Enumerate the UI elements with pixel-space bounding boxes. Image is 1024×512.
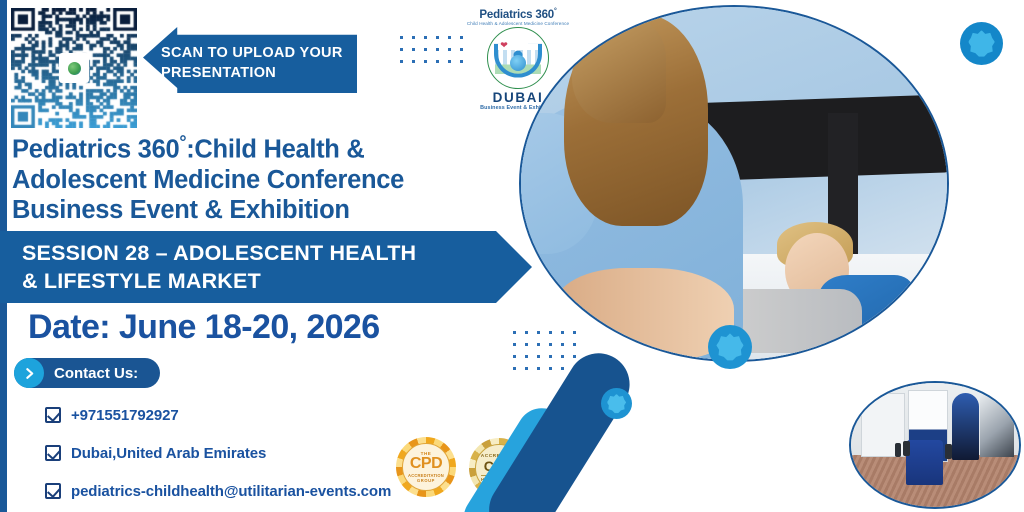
contact-item-phone[interactable]: +971551792927	[45, 398, 465, 432]
logo-heart-icon: ❤	[500, 41, 508, 49]
cpd-badge-main-text: CPD	[410, 456, 442, 472]
dot	[412, 36, 415, 39]
conference-banner: SCAN TO UPLOAD YOUR PRESENTATION Pediatr…	[0, 0, 1024, 512]
chevron-right-icon	[14, 358, 44, 388]
checkbox-checked-icon	[45, 483, 61, 499]
expo-panel-dark	[952, 393, 979, 460]
expo-panel-graphic	[980, 395, 1014, 457]
dot	[424, 60, 427, 63]
dot	[537, 367, 540, 370]
dot	[412, 60, 415, 63]
flower-petal-shape	[968, 30, 995, 57]
dot	[525, 367, 528, 370]
event-date: Date: June 18-20, 2026	[28, 308, 380, 347]
dot	[448, 48, 451, 51]
dot	[436, 48, 439, 51]
dot-grid-top	[400, 36, 463, 63]
dot	[513, 331, 516, 334]
qr-center-logo	[59, 53, 89, 83]
dot	[400, 60, 403, 63]
contact-phone-value: +971551792927	[71, 407, 179, 424]
dot	[400, 48, 403, 51]
session-title: SESSION 28 – ADOLESCENT HEALTH & LIFESTY…	[22, 240, 522, 296]
checkbox-checked-icon	[45, 445, 61, 461]
contact-location-value: Dubai,United Arab Emirates	[71, 445, 266, 462]
title-line-3: Business Event & Exhibition	[12, 195, 532, 225]
dot	[436, 36, 439, 39]
dot	[400, 36, 403, 39]
scan-callout-text: SCAN TO UPLOAD YOUR PRESENTATION	[161, 44, 361, 83]
exhibition-hall-photo	[849, 381, 1021, 509]
page-title: Pediatrics 360°:Child Health & Adolescen…	[12, 132, 532, 225]
flower-decoration-icon	[601, 388, 632, 419]
dot	[549, 367, 552, 370]
dot	[412, 48, 415, 51]
dot	[513, 343, 516, 346]
expo-attendee	[945, 444, 952, 459]
scan-line-1: SCAN TO UPLOAD YOUR	[161, 44, 361, 64]
title-line-2: Adolescent Medicine Conference	[12, 165, 532, 195]
dot	[448, 36, 451, 39]
expo-attendee	[903, 441, 910, 456]
flower-decoration-icon	[708, 325, 752, 369]
dot	[513, 355, 516, 358]
dot	[424, 36, 427, 39]
nurse-examining-child-photo	[519, 5, 949, 362]
cpd-badge-sub2-text: GROUP	[417, 478, 435, 483]
cpd-accreditation-badge: THE CPD ACCREDITATION GROUP	[396, 437, 456, 497]
dot	[561, 367, 564, 370]
session-line-1: SESSION 28 – ADOLESCENT HEALTH	[22, 240, 522, 268]
expo-kiosk	[906, 440, 943, 485]
checkbox-checked-icon	[45, 407, 61, 423]
dot	[436, 60, 439, 63]
flower-decoration-icon	[960, 22, 1003, 65]
dot	[424, 48, 427, 51]
dot	[448, 60, 451, 63]
qr-globe-mark	[68, 62, 81, 75]
dot	[513, 367, 516, 370]
flower-petal-shape	[716, 333, 743, 360]
expo-attendee	[895, 443, 902, 458]
qr-code-icon[interactable]	[11, 8, 137, 128]
flower-petal-shape	[607, 394, 626, 413]
scan-line-2: PRESENTATION	[161, 64, 361, 84]
cpd-badge-disc: THE CPD ACCREDITATION GROUP	[402, 443, 450, 491]
contact-email-value: pediatrics-childhealth@utilitarian-event…	[71, 483, 391, 500]
session-line-2: & LIFESTYLE MARKET	[22, 268, 522, 296]
title-line-1: Pediatrics 360°:Child Health &	[12, 132, 532, 165]
